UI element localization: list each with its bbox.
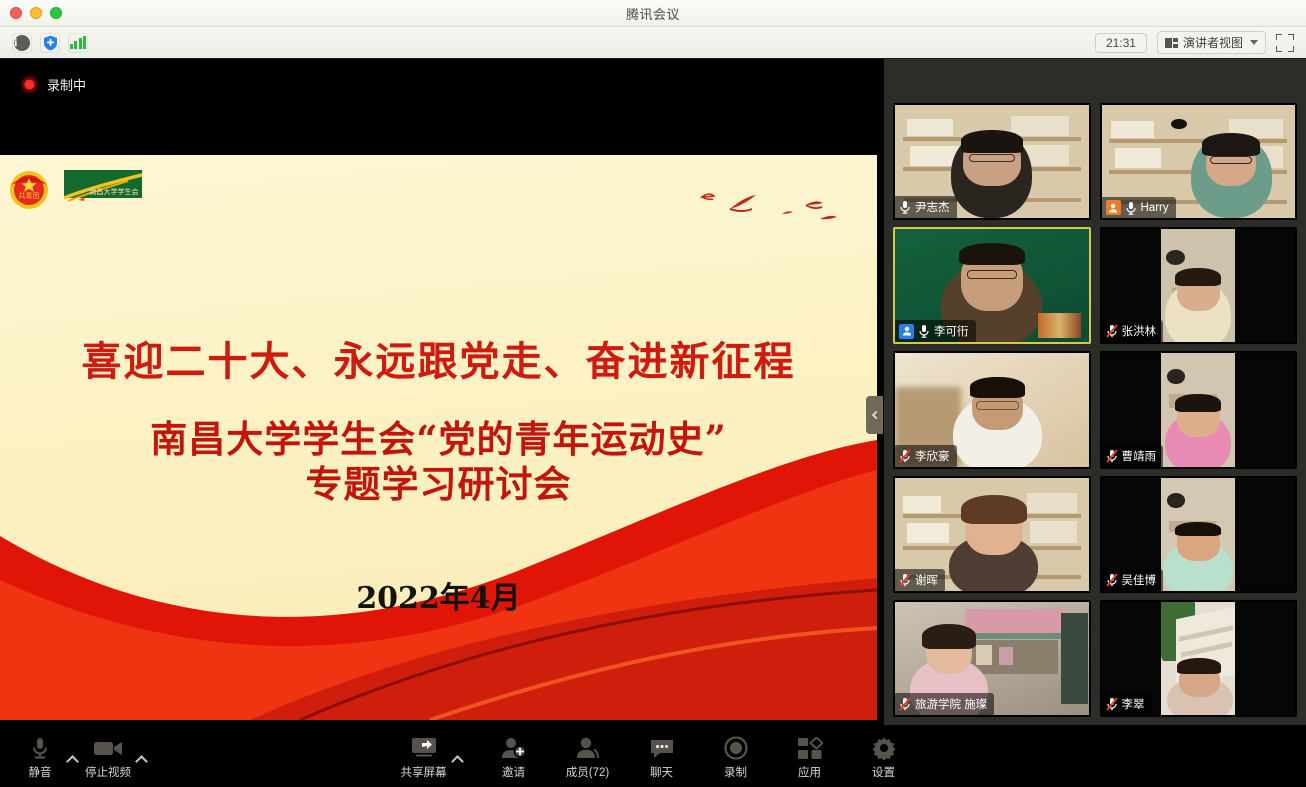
apps-button[interactable]: 应用 [784,733,836,782]
chat-bubble-icon [649,735,675,761]
flying-birds-decoration [694,183,859,231]
communist-youth-league-emblem: 共青团 [4,163,54,213]
record-label: 录制 [724,764,747,780]
participant-tile[interactable]: Harry [1100,103,1298,220]
participant-tile[interactable]: 旅游学院 施璨 [893,600,1091,717]
meeting-control-bar: 静音 停止视频 [0,725,1306,787]
record-circle-icon [724,735,748,761]
info-icon[interactable]: i [12,33,32,53]
apps-grid-icon [797,735,823,761]
svg-text:南昌大学学生会: 南昌大学学生会 [90,187,139,196]
nanchang-university-student-union-logo: 南昌大学学生会 [58,167,142,209]
participant-tile[interactable]: 曹靖雨 [1100,351,1298,468]
microphone-muted-icon [899,697,911,711]
view-mode-selector[interactable]: 演讲者视图 [1157,31,1266,54]
fullscreen-icon[interactable] [1276,34,1294,52]
participants-button[interactable]: 成员(72) [562,733,614,782]
participants-icon [575,735,601,761]
participant-nameplate: 李翠 [1102,693,1152,715]
share-options-caret-icon[interactable] [451,755,464,768]
participant-name: Harry [1141,202,1169,214]
speaker-view-icon [1165,37,1178,49]
participant-video-panel: 尹志杰 [884,59,1306,725]
participant-nameplate: 谢晖 [895,569,945,591]
microphone-muted-icon [899,573,911,587]
participant-nameplate: Harry [1102,197,1176,218]
slide-subtitle-line-2: 专题学习研讨会 [0,462,877,507]
slide-subtitle-line-1: 南昌大学学生会“党的青年运动史” [0,417,877,462]
settings-label: 设置 [872,764,895,780]
apps-label: 应用 [798,764,821,780]
chat-button[interactable]: 聊天 [636,733,688,782]
panel-collapse-handle[interactable] [866,396,883,434]
microphone-icon [899,200,911,214]
participant-nameplate: 旅游学院 施璨 [895,693,994,715]
participant-name: 谢晖 [915,572,938,588]
participant-nameplate: 尹志杰 [895,196,957,218]
participant-tile[interactable]: 李翠 [1100,600,1298,717]
microphone-icon [1125,201,1137,215]
participant-name: 旅游学院 施璨 [915,696,987,712]
chevron-down-icon [1250,40,1258,45]
participant-name: 尹志杰 [915,199,950,215]
share-screen-icon [410,735,438,761]
invite-button[interactable]: 邀请 [488,733,540,782]
share-screen-button[interactable]: 共享屏幕 [397,733,451,782]
shield-icon[interactable] [40,33,60,53]
settings-button[interactable]: 设置 [858,733,910,782]
microphone-muted-icon [1106,449,1118,463]
participant-nameplate: 李可衎 [895,320,976,342]
microphone-muted-icon [1106,573,1118,587]
presentation-slide: 共青团 南昌大学学生会 喜迎二十大、永远 [0,155,877,720]
participant-name: 李可衎 [934,323,969,339]
participant-nameplate: 吴佳博 [1102,569,1164,591]
participants-label: 成员(72) [566,764,609,780]
participant-nameplate: 张洪林 [1102,320,1164,342]
participant-tile[interactable]: 谢晖 [893,476,1091,593]
invite-label: 邀请 [502,764,525,780]
participant-name: 李翠 [1122,696,1145,712]
recording-label: 录制中 [47,75,86,94]
participant-tile[interactable]: 张洪林 [1100,227,1298,344]
participant-nameplate: 曹靖雨 [1102,445,1164,467]
slide-title: 喜迎二十大、永远跟党走、奋进新征程 [0,329,877,387]
slide-subtitle: 南昌大学学生会“党的青年运动史” 专题学习研讨会 [0,417,877,507]
participant-tile[interactable]: 吴佳博 [1100,476,1298,593]
microphone-icon [918,324,930,338]
cohost-badge-icon [899,324,914,339]
recording-indicator: 录制中 [22,75,86,94]
participant-name: 吴佳博 [1122,572,1157,588]
meeting-toolbar: i 21:31 [0,27,1306,59]
record-button[interactable]: 录制 [710,733,762,782]
host-badge-icon [1106,200,1121,215]
participant-tile[interactable]: 李可衎 [893,227,1091,344]
participant-nameplate: 李欣豪 [895,445,957,467]
gear-icon [872,735,896,761]
participant-tile[interactable]: 尹志杰 [893,103,1091,220]
chevron-left-icon [871,411,879,419]
invite-person-icon [501,735,527,761]
window-title: 腾讯会议 [0,4,1306,23]
meeting-clock: 21:31 [1095,33,1147,53]
tencent-meeting-window: 腾讯会议 i 21:31 [0,0,1306,787]
title-bar: 腾讯会议 [0,0,1306,27]
svg-text:共青团: 共青团 [19,191,40,200]
network-signal-icon[interactable] [68,33,88,53]
share-screen-label: 共享屏幕 [401,764,447,780]
participant-name: 李欣豪 [915,448,950,464]
recording-dot-icon [22,77,37,92]
microphone-muted-icon [1106,324,1118,338]
participant-name: 张洪林 [1122,323,1157,339]
chat-label: 聊天 [650,764,673,780]
participant-tile[interactable]: 李欣豪 [893,351,1091,468]
microphone-muted-icon [899,449,911,463]
shared-screen-stage: 录制中 共青团 [0,59,884,725]
view-mode-label: 演讲者视图 [1183,34,1243,51]
participant-name: 曹靖雨 [1122,448,1157,464]
microphone-muted-icon [1106,697,1118,711]
slide-date: 2022年4月 [0,573,877,617]
slide-logos: 共青团 南昌大学学生会 [4,163,142,213]
